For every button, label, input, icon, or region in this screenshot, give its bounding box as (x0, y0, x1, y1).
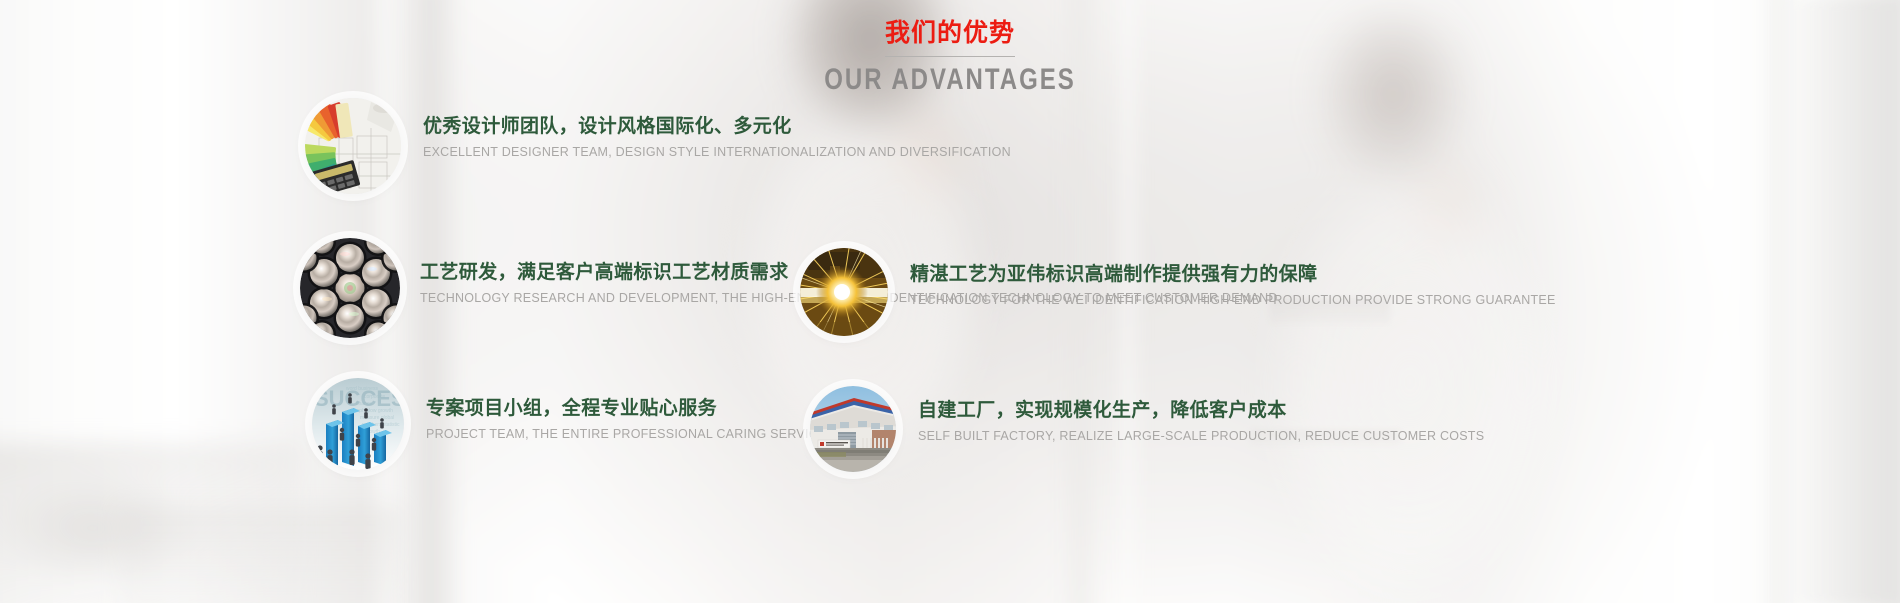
feature-title-1: 优秀设计师团队，设计风格国际化、多元化 (423, 114, 1011, 138)
feature-text-1: 优秀设计师团队，设计风格国际化、多元化 EXCELLENT DESIGNER T… (423, 98, 1011, 160)
success-bar-chart-team-icon: SUCCESS word business corporate finance … (312, 378, 404, 470)
page-title-english: OUR ADVANTAGES (190, 63, 1710, 97)
feature-item-4[interactable]: SUCCESS word business corporate finance … (312, 378, 835, 470)
feature-text-5: 自建工厂，实现规模化生产，降低客户成本 SELF BUILT FACTORY, … (918, 386, 1484, 444)
svg-text:finance: finance (356, 401, 372, 407)
feature-title-5: 自建工厂，实现规模化生产，降低客户成本 (918, 398, 1484, 422)
svg-text:corporate: corporate (364, 394, 385, 400)
metal-pipes-bundle-icon (300, 238, 400, 338)
color-swatch-blueprint-icon (305, 98, 401, 194)
section-heading: 我们的优势 OUR ADVANTAGES (0, 18, 1900, 97)
page-title-chinese: 我们的优势 (0, 18, 1900, 48)
feature-text-3: 精湛工艺为亚伟标识高端制作提供强有力的保障 TECHNOLOGY FOR THE… (910, 248, 1556, 308)
feature-title-3: 精湛工艺为亚伟标识高端制作提供强有力的保障 (910, 262, 1556, 286)
content-layer: 我们的优势 OUR ADVANTAGES (0, 0, 1900, 603)
feature-item-1[interactable]: 优秀设计师团队，设计风格国际化、多元化 EXCELLENT DESIGNER T… (305, 98, 1011, 194)
svg-text:word business: word business (346, 386, 378, 392)
feature-subtitle-5: SELF BUILT FACTORY, REALIZE LARGE-SCALE … (918, 428, 1484, 444)
laser-cutting-sparks-icon (800, 248, 888, 336)
feature-text-4: 专案项目小组，全程专业贴心服务 PROJECT TEAM, THE ENTIRE… (426, 378, 835, 442)
heading-divider (885, 56, 1015, 57)
advantages-section: 我们的优势 OUR ADVANTAGES (0, 0, 1900, 603)
feature-item-5[interactable]: 自建工厂，实现规模化生产，降低客户成本 SELF BUILT FACTORY, … (810, 386, 1484, 472)
feature-item-3[interactable]: 精湛工艺为亚伟标识高端制作提供强有力的保障 TECHNOLOGY FOR THE… (800, 248, 1556, 336)
feature-subtitle-1: EXCELLENT DESIGNER TEAM, DESIGN STYLE IN… (423, 144, 1011, 160)
feature-subtitle-4: PROJECT TEAM, THE ENTIRE PROFESSIONAL CA… (426, 426, 835, 442)
feature-subtitle-3: TECHNOLOGY FOR THE WEI IDENTIFICATION HI… (910, 292, 1556, 308)
factory-building-icon (810, 386, 896, 472)
feature-title-4: 专案项目小组，全程专业贴心服务 (426, 396, 835, 420)
